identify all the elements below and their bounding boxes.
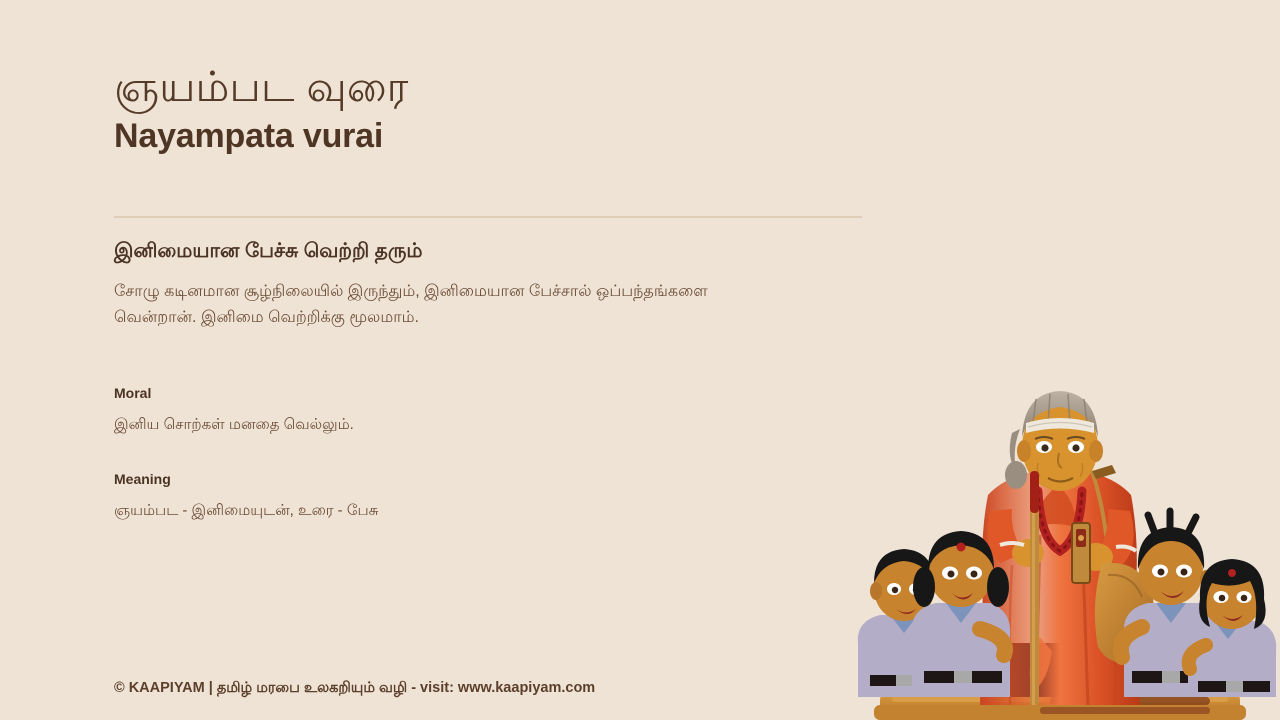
- child-figure-4: [1188, 559, 1276, 697]
- story-block: இனிமையான பேச்சு வெற்றி தரும் சோழு கடினமா…: [114, 238, 814, 331]
- header-divider: [114, 216, 862, 218]
- poster-page: ஞயம்பட வுரை Nayampata vurai இனிமையான பேச…: [0, 0, 1280, 720]
- meaning-section: Meaning ஞயம்பட - இனிமையுடன், உரை - பேசு: [114, 470, 774, 522]
- storyteller-figure: [980, 391, 1154, 707]
- bench-backrest: [910, 643, 1228, 697]
- bench-shape: [880, 693, 1240, 720]
- moral-text: இனிய சொற்கள் மனதை வெல்லும்.: [114, 414, 774, 437]
- meaning-label: Meaning: [114, 470, 774, 490]
- footer-credit: © KAAPIYAM | தமிழ் மரபை உலகறியும் வழி - …: [114, 678, 595, 698]
- meaning-text: ஞயம்பட - இனிமையுடன், உரை - பேசு: [114, 500, 774, 523]
- page-title-roman: Nayampata vurai: [114, 116, 874, 157]
- moral-section: Moral இனிய சொற்கள் மனதை வெல்லும்.: [114, 384, 774, 436]
- child-figure-1: [858, 549, 950, 697]
- page-title-tamil: ஞயம்பட வுரை: [114, 62, 874, 112]
- moral-label: Moral: [114, 384, 774, 404]
- child-figure-2: [912, 531, 1010, 697]
- child-figure-3: [1121, 511, 1220, 697]
- bench-front-lip: [874, 705, 1246, 720]
- page-header: ஞயம்பட வுரை Nayampata vurai: [114, 62, 874, 156]
- storyteller-with-children-illustration: [840, 375, 1280, 720]
- story-body-text: சோழு கடினமான சூழ்நிலையில் இருந்தும், இனி…: [114, 279, 786, 331]
- story-heading: இனிமையான பேச்சு வெற்றி தரும்: [114, 238, 814, 265]
